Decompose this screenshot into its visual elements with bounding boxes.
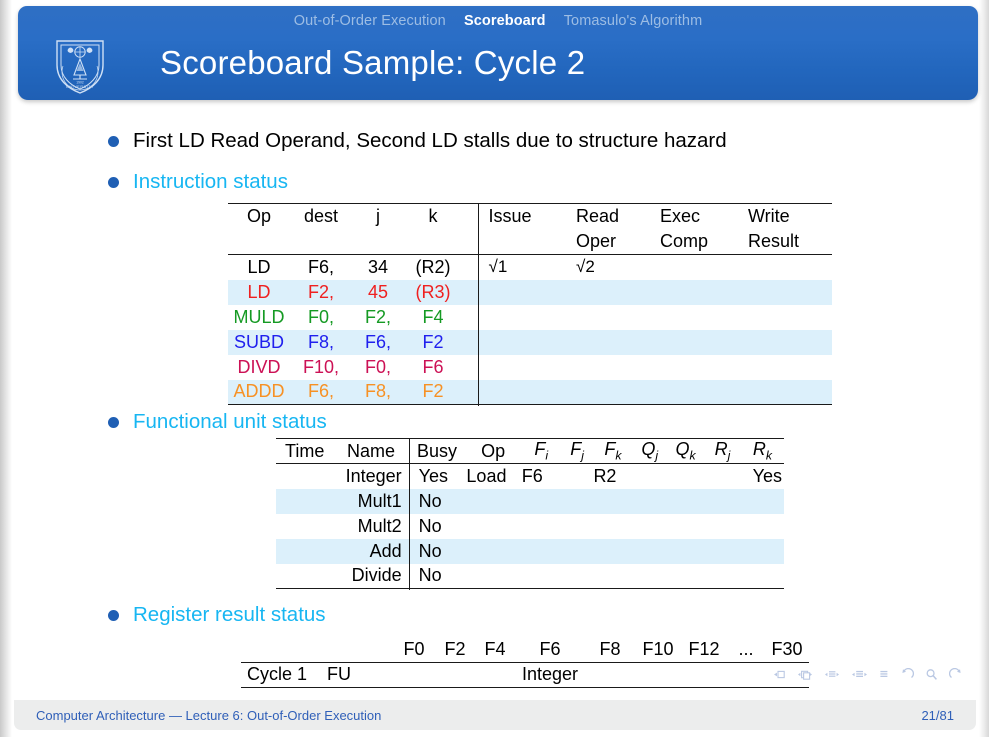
cell-fk <box>593 539 632 564</box>
table-bottom-rule <box>228 405 832 406</box>
cell-time <box>276 514 333 539</box>
cell-name: Divide <box>333 564 409 589</box>
cell-qj <box>632 539 667 564</box>
cell-qk <box>667 564 704 589</box>
cell-op: LD <box>228 255 290 280</box>
bullet-functional-unit-status: Functional unit status <box>108 409 327 435</box>
cell-op <box>464 539 521 564</box>
table-row: LD F2, 45 (R3) <box>228 280 832 305</box>
section-nav-icon[interactable] <box>851 668 868 681</box>
cell-fi <box>522 514 561 539</box>
bullet-first-ld: First LD Read Operand, Second LD stalls … <box>108 128 727 154</box>
back-arrow-icon[interactable] <box>900 668 914 681</box>
presentation-nav-icon[interactable] <box>879 668 889 681</box>
cell-issue <box>478 305 562 330</box>
cell-j: 45 <box>352 280 404 305</box>
cell-f6: Integer <box>515 662 585 687</box>
table-row: LD F6, 34 (R2) √1 √2 <box>228 255 832 280</box>
bullet-text-register-result-status: Register result status <box>133 602 326 628</box>
slide-header-bar: Out-of-Order Execution Scoreboard Tomasu… <box>18 6 978 100</box>
nav-item-out-of-order-execution[interactable]: Out-of-Order Execution <box>287 13 453 29</box>
col-header-write-result: Result <box>742 229 832 255</box>
cell-rk <box>741 539 784 564</box>
section-navigation: Out-of-Order Execution Scoreboard Tomasu… <box>18 13 978 29</box>
cell-k: F6 <box>404 355 462 380</box>
slide-prev-icon[interactable] <box>773 668 786 681</box>
cell-issue <box>478 280 562 305</box>
cell-write <box>742 330 832 355</box>
cell-fj <box>561 489 594 514</box>
cell-name: Mult1 <box>333 489 409 514</box>
cell-fi <box>522 564 561 589</box>
cell-op: MULD <box>228 305 290 330</box>
col-header-op: Op <box>464 439 521 464</box>
bullet-text-instruction-status: Instruction status <box>133 169 288 195</box>
col-header-f2: F2 <box>435 637 475 662</box>
cell-busy: No <box>409 514 464 539</box>
col-header-exec: Exec <box>654 204 742 229</box>
cell-rk: Yes <box>741 464 784 489</box>
cell-name: Integer <box>333 464 409 489</box>
col-header-fk: Fk <box>593 439 632 464</box>
cell-fu: FU <box>327 662 393 687</box>
cell-qj <box>632 514 667 539</box>
cell-rk <box>741 514 784 539</box>
cell-issue: √1 <box>478 255 562 280</box>
cell-read <box>562 280 654 305</box>
footer-page-number: 21/81 <box>921 708 976 723</box>
cell-f12 <box>681 662 727 687</box>
cell-qj <box>632 489 667 514</box>
cell-f8 <box>585 662 635 687</box>
col-header-exec-comp: Comp <box>654 229 742 255</box>
cell-op <box>464 514 521 539</box>
cell-f0 <box>393 662 435 687</box>
svg-text:UNIVERSITY: UNIVERSITY <box>66 84 94 89</box>
col-header-time: Time <box>276 439 333 464</box>
cell-read <box>562 305 654 330</box>
cell-issue <box>478 380 562 405</box>
cell-rj <box>704 564 741 589</box>
bullet-dot-icon <box>108 417 119 428</box>
cell-issue <box>478 330 562 355</box>
cell-j: F0, <box>352 355 404 380</box>
col-header-f10: F10 <box>635 637 681 662</box>
cell-rj <box>704 514 741 539</box>
cell-exec <box>654 380 742 405</box>
cell-j: F8, <box>352 380 404 405</box>
cell-dest: F0, <box>290 305 352 330</box>
cell-f10 <box>635 662 681 687</box>
cell-op: DIVD <box>228 355 290 380</box>
frame-nav-icon[interactable] <box>797 668 813 681</box>
col-header-op: Op <box>228 204 290 229</box>
table-row: Divide No <box>276 564 784 589</box>
cell-read <box>562 355 654 380</box>
beamer-navigation-symbols[interactable] <box>773 668 963 681</box>
cell-write <box>742 305 832 330</box>
col-header-f12: F12 <box>681 637 727 662</box>
cell-busy: Yes <box>409 464 464 489</box>
cell-name: Add <box>333 539 409 564</box>
cell-fj <box>561 564 594 589</box>
cell-qk <box>667 489 704 514</box>
cell-k: F4 <box>404 305 462 330</box>
col-header-j: j <box>352 204 404 229</box>
cell-fi: F6 <box>522 464 561 489</box>
cell-j: F6, <box>352 330 404 355</box>
col-header-f6: F6 <box>515 637 585 662</box>
cell-busy: No <box>409 489 464 514</box>
col-header-read-oper: Oper <box>562 229 654 255</box>
col-header-rk: Rk <box>741 439 784 464</box>
cell-busy: No <box>409 539 464 564</box>
cell-qk <box>667 539 704 564</box>
table-bottom-rule <box>241 687 809 688</box>
nanjing-university-shield-icon: 1902 UNIVERSITY <box>49 35 111 97</box>
col-header-dest: dest <box>290 204 352 229</box>
nav-item-tomasulos-algorithm[interactable]: Tomasulo's Algorithm <box>557 13 710 29</box>
bullet-dot-icon <box>108 610 119 621</box>
table-row: Integer Yes Load F6 R2 Yes <box>276 464 784 489</box>
cell-read <box>562 380 654 405</box>
cell-cycle: Cycle 1 <box>241 662 327 687</box>
cell-exec <box>654 255 742 280</box>
col-header-f4: F4 <box>475 637 515 662</box>
col-header-busy: Busy <box>409 439 464 464</box>
cell-fj <box>561 514 594 539</box>
cell-write <box>742 380 832 405</box>
col-header-write: Write <box>742 204 832 229</box>
col-header-name: Name <box>333 439 409 464</box>
cell-issue <box>478 355 562 380</box>
cell-exec <box>654 280 742 305</box>
col-header-fi: Fi <box>522 439 561 464</box>
nav-item-scoreboard[interactable]: Scoreboard <box>457 13 553 29</box>
col-header-qk: Qk <box>667 439 704 464</box>
cell-dest: F10, <box>290 355 352 380</box>
cell-write <box>742 355 832 380</box>
col-header-f30: F30 <box>765 637 809 662</box>
cell-exec <box>654 330 742 355</box>
cell-qk <box>667 514 704 539</box>
cell-k: F2 <box>404 330 462 355</box>
register-result-status-table: F0 F2 F4 F6 F8 F10 F12 ... F30 Cycle 1 F… <box>241 637 804 688</box>
cell-exec <box>654 305 742 330</box>
cell-name: Mult2 <box>333 514 409 539</box>
table-row: Add No <box>276 539 784 564</box>
col-header-rj: Rj <box>704 439 741 464</box>
table-header-row: Time Name Busy Op Fi Fj Fk Qj Qk Rj Rk <box>276 439 784 464</box>
cell-k: F2 <box>404 380 462 405</box>
bullet-dot-icon <box>108 177 119 188</box>
cell-fk <box>593 564 632 589</box>
col-header-issue: Issue <box>478 204 562 229</box>
subsection-nav-icon[interactable] <box>824 668 840 681</box>
cell-fk: R2 <box>593 464 632 489</box>
cell-op: SUBD <box>228 330 290 355</box>
slide-canvas: Out-of-Order Execution Scoreboard Tomasu… <box>0 0 989 737</box>
forward-arrow-icon[interactable] <box>949 668 963 681</box>
cell-f2 <box>435 662 475 687</box>
cell-fi <box>522 489 561 514</box>
cell-fk <box>593 514 632 539</box>
bullet-text-functional-unit-status: Functional unit status <box>133 409 327 435</box>
cell-fi <box>522 539 561 564</box>
instruction-status-table: Op dest j k Issue Read Exec Write Oper C… <box>228 203 832 406</box>
col-spacer <box>462 204 478 229</box>
cell-j: 34 <box>352 255 404 280</box>
cell-fj <box>561 464 594 489</box>
bullet-register-result-status: Register result status <box>108 602 326 628</box>
col-header-read: Read <box>562 204 654 229</box>
slide-body: First LD Read Operand, Second LD stalls … <box>0 104 989 674</box>
table-row: Mult2 No <box>276 514 784 539</box>
table-row: MULD F0, F2, F4 <box>228 305 832 330</box>
table-row: ADDD F6, F8, F2 <box>228 380 832 405</box>
cell-qj <box>632 464 667 489</box>
cell-time <box>276 464 333 489</box>
table-row: Cycle 1 FU Integer <box>241 662 809 687</box>
col-header-ellipsis: ... <box>727 637 765 662</box>
cell-read: √2 <box>562 255 654 280</box>
bullet-instruction-status: Instruction status <box>108 169 288 195</box>
cell-op: Load <box>464 464 521 489</box>
cell-k: (R3) <box>404 280 462 305</box>
cell-busy: No <box>409 564 464 589</box>
cell-j: F2, <box>352 305 404 330</box>
cell-rj <box>704 539 741 564</box>
cell-op <box>464 489 521 514</box>
cell-fk <box>593 489 632 514</box>
cell-rk <box>741 489 784 514</box>
cell-exec <box>654 355 742 380</box>
functional-unit-status-table: Time Name Busy Op Fi Fj Fk Qj Qk Rj Rk I… <box>276 438 784 590</box>
table-header-row-2: Oper Comp Result <box>228 229 832 255</box>
cell-dest: F6, <box>290 380 352 405</box>
cell-time <box>276 539 333 564</box>
col-header-f0: F0 <box>393 637 435 662</box>
cell-fj <box>561 539 594 564</box>
slide-footer: Computer Architecture — Lecture 6: Out-o… <box>14 700 976 730</box>
cell-op <box>464 564 521 589</box>
cell-dest: F2, <box>290 280 352 305</box>
bullet-dot-icon <box>108 136 119 147</box>
cell-rk <box>741 564 784 589</box>
cell-f4 <box>475 662 515 687</box>
slide-title: Scoreboard Sample: Cycle 2 <box>160 44 585 82</box>
table-row: DIVD F10, F0, F6 <box>228 355 832 380</box>
col-header-fj: Fj <box>561 439 594 464</box>
table-header-row: F0 F2 F4 F6 F8 F10 F12 ... F30 <box>241 637 809 662</box>
col-header-k: k <box>404 204 462 229</box>
table-row: SUBD F8, F6, F2 <box>228 330 832 355</box>
cell-write <box>742 280 832 305</box>
bullet-text-first-ld: First LD Read Operand, Second LD stalls … <box>133 128 727 154</box>
table-row: Mult1 No <box>276 489 784 514</box>
footer-lecture-title: Computer Architecture — Lecture 6: Out-o… <box>14 708 381 723</box>
search-icon[interactable] <box>925 668 938 681</box>
cell-dest: F8, <box>290 330 352 355</box>
cell-dest: F6, <box>290 255 352 280</box>
cell-qk <box>667 464 704 489</box>
col-header-qj: Qj <box>632 439 667 464</box>
cell-write <box>742 255 832 280</box>
cell-rj <box>704 464 741 489</box>
cell-read <box>562 330 654 355</box>
cell-k: (R2) <box>404 255 462 280</box>
table-header-row: Op dest j k Issue Read Exec Write <box>228 204 832 229</box>
col-header-f8: F8 <box>585 637 635 662</box>
cell-qj <box>632 564 667 589</box>
cell-op: ADDD <box>228 380 290 405</box>
cell-ellipsis <box>727 662 765 687</box>
cell-rj <box>704 489 741 514</box>
cell-op: LD <box>228 280 290 305</box>
cell-time <box>276 489 333 514</box>
table-bottom-rule <box>276 589 784 590</box>
cell-time <box>276 564 333 589</box>
